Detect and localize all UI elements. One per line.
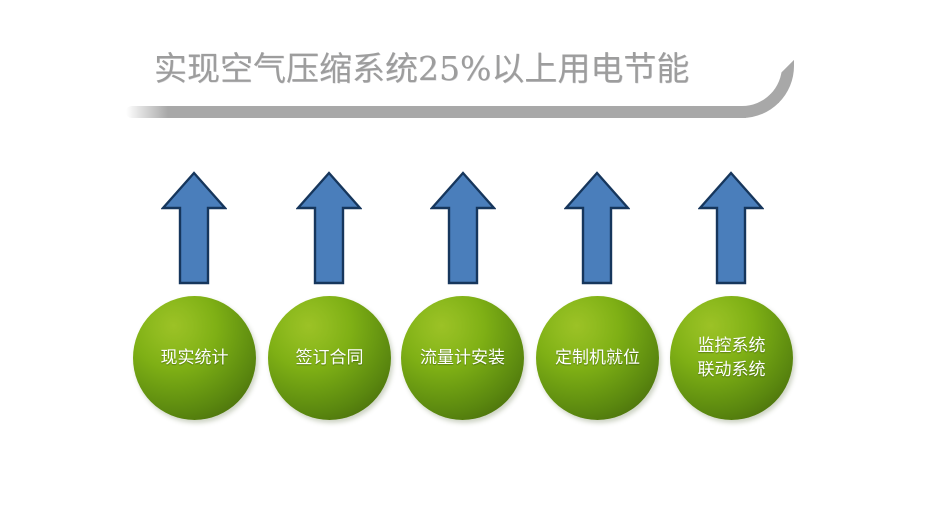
arrow-up-4-icon bbox=[564, 170, 630, 286]
node-1[interactable]: 现实统计 bbox=[133, 296, 256, 420]
title-banner: 实现空气压缩系统25%以上用电节能 bbox=[126, 30, 786, 125]
node-2-circle bbox=[268, 296, 391, 420]
arrow-up-2-icon bbox=[296, 170, 362, 286]
node-4-circle bbox=[536, 296, 659, 420]
node-3-circle bbox=[401, 296, 524, 420]
arrow-up-1-icon bbox=[161, 170, 227, 286]
node-5-circle bbox=[670, 296, 793, 420]
banner-bottom-rule bbox=[126, 106, 746, 118]
node-1-circle bbox=[133, 296, 256, 420]
page-title: 实现空气压缩系统25%以上用电节能 bbox=[154, 36, 754, 102]
node-3[interactable]: 流量计安装 bbox=[401, 296, 524, 420]
slide-canvas: 实现空气压缩系统25%以上用电节能 现实统计签订合同流量计安装定制机就位监控系统… bbox=[0, 0, 945, 529]
node-5[interactable]: 监控系统联动系统 bbox=[670, 296, 793, 420]
node-2[interactable]: 签订合同 bbox=[268, 296, 391, 420]
arrow-up-5-icon bbox=[698, 170, 764, 286]
node-4[interactable]: 定制机就位 bbox=[536, 296, 659, 420]
arrow-up-3-icon bbox=[430, 170, 496, 286]
